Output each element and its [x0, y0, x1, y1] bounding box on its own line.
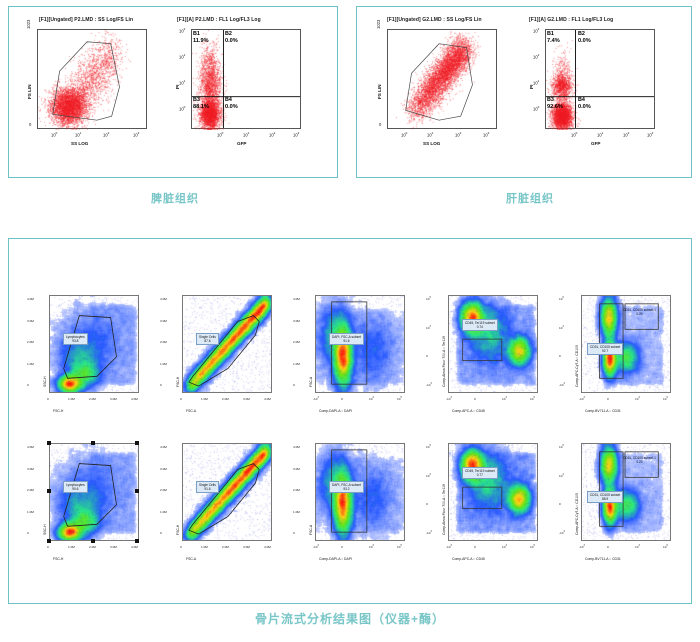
panel-spleen: [F1][Ungated] P2.LMD : SS Log/FS Lin FS …: [8, 6, 338, 178]
bone-ytick: 103: [559, 326, 564, 330]
plot-spleen-scatter: [37, 29, 147, 129]
bone-ytick: -103: [559, 531, 565, 535]
gate-label: DAPI, FSC-A subset91.6: [329, 333, 364, 345]
bone-xtick: -103: [313, 545, 319, 549]
bone-ytick: 103: [559, 474, 564, 478]
ytick-spleen-quad-3: 103: [179, 27, 185, 33]
bone-yaxis-label: FSC-A: [309, 377, 313, 387]
plot-title-liver-scatter: [F1][Ungated] G2.LMD : SS Log/FS Lin: [387, 17, 482, 23]
bone-ytick: 0: [27, 383, 29, 387]
quad-name-b3: B3: [547, 97, 554, 103]
bone-yaxis-label: Comp-APC-Cy7-A :: CD105: [575, 493, 579, 535]
bone-ytick: 103: [426, 326, 431, 330]
quadrant-crosshair-icon: [546, 30, 654, 128]
bone-xtick: 3.0M: [110, 545, 117, 549]
bone-xtick: 105: [530, 397, 535, 401]
bone-ytick: 1.0M: [293, 362, 300, 366]
selection-handle[interactable]: [135, 489, 139, 493]
ytick-spleen-quad-0: 100: [179, 105, 185, 111]
bone-plot-cell[interactable]: CD31, CD105 subset92.7CD31, CD105 subset…: [555, 291, 683, 441]
bone-ytick: 4.0M: [27, 297, 34, 301]
bone-plot-cell[interactable]: Single Cells87.64.0M3.0M2.0M1.0M001.0M2.…: [156, 291, 284, 441]
bone-ytick: 3.0M: [27, 467, 34, 471]
gate-label-secondary: CD31, CD105 subset-10.20: [621, 307, 658, 317]
xaxis-label-spleen-quad: GFP: [237, 141, 246, 146]
quad-name-b2: B2: [225, 31, 232, 37]
bone-yaxis-label: Comp-APC-Cy7-A :: CD105: [575, 345, 579, 387]
bone-xtick: 103: [502, 397, 507, 401]
xtick-liver-quad-1: 101: [597, 131, 603, 137]
caption-spleen: 脾脏组织: [60, 190, 290, 206]
bone-ytick: 3.0M: [293, 319, 300, 323]
bone-xaxis-label: Comp-APC-A :: CD45: [452, 557, 485, 561]
yaxis-label-spleen-scatter: FS LIN: [27, 84, 32, 99]
bone-yaxis-label: Comp-Alexa Flour 700-A :: Ter119: [442, 336, 446, 387]
bone-yaxis-label: FSC-A: [309, 525, 313, 535]
bone-xtick: 1.0M: [201, 545, 208, 549]
bone-ytick: 1.0M: [160, 510, 167, 514]
bone-xtick: 2.0M: [222, 545, 229, 549]
bone-xtick: 103: [369, 397, 374, 401]
quad-name-b2: B2: [578, 31, 585, 37]
quad-value-b3: 88.1%: [193, 104, 209, 110]
bone-ytick: 103: [426, 474, 431, 478]
bone-xaxis-label: FSC-H: [53, 557, 63, 561]
bone-xtick: 4.0M: [131, 397, 138, 401]
bone-yaxis-label: FSC-H: [176, 377, 180, 387]
bone-xtick: 1.0M: [201, 397, 208, 401]
bone-xtick: -103: [446, 545, 452, 549]
bone-plot-cell[interactable]: Lymphocytes90.64.0M3.0M2.0M1.0M001.0M2.0…: [23, 439, 151, 589]
bone-xtick: -103: [313, 397, 319, 401]
ytick-spleen-quad-2: 102: [179, 53, 185, 59]
bone-yaxis-label: SSC-H: [43, 376, 47, 387]
bone-xtick: 103: [635, 545, 640, 549]
bone-plot-cell[interactable]: Lymphocytes93.84.0M3.0M2.0M1.0M001.0M2.0…: [23, 291, 151, 441]
bone-ytick: 0: [160, 383, 162, 387]
bone-ytick: 105: [559, 297, 564, 301]
bone-xtick: 105: [397, 545, 402, 549]
ytick-liver-scatter-1023: 1023: [376, 20, 381, 29]
bone-ytick: 0: [426, 354, 428, 358]
bone-ytick: 105: [426, 445, 431, 449]
bone-xtick: 0: [474, 545, 476, 549]
gate-label: Single Cells91.6: [196, 481, 219, 493]
xaxis-label-liver-scatter: SS LOG: [423, 141, 440, 146]
xtick-liver-quad-0: 100: [571, 131, 577, 137]
gate-label-value-2: 0.20: [623, 460, 656, 464]
bone-xtick: -103: [579, 397, 585, 401]
quad-name-b4: B4: [578, 97, 585, 103]
gate-label-value: 92.7: [590, 349, 620, 353]
bone-ytick: -103: [426, 531, 432, 535]
bone-xtick: 105: [663, 545, 668, 549]
ytick-liver-quad-1: 101: [533, 79, 539, 85]
xtick-spleen-quad-3: 103: [293, 131, 299, 137]
bone-ytick: 3.0M: [160, 467, 167, 471]
bone-yaxis-label: Comp-Alexa Flour 700-A :: Ter119: [442, 484, 446, 535]
bone-ytick: 0: [293, 383, 295, 387]
bone-xtick: -103: [579, 545, 585, 549]
quadrant-crosshair-icon: [192, 30, 300, 128]
gate-label-value: 90.6: [66, 487, 85, 491]
gate-label: Lymphocytes90.6: [63, 481, 88, 493]
bone-ytick: 2.0M: [293, 488, 300, 492]
xtick-spleen-scatter-2: 102: [103, 131, 109, 137]
bone-ytick: 0: [27, 531, 29, 535]
bone-xtick: 105: [530, 545, 535, 549]
bone-ytick: -103: [559, 383, 565, 387]
bone-xtick: 103: [502, 545, 507, 549]
bone-xaxis-label: Comp-BV711-A :: CD31: [585, 409, 621, 413]
ytick-liver-quad-3: 103: [533, 27, 539, 33]
xtick-liver-scatter-3: 103: [483, 131, 489, 137]
bone-xtick: 1.0M: [68, 397, 75, 401]
selection-handle[interactable]: [47, 489, 51, 493]
bone-ytick: 2.0M: [160, 488, 167, 492]
bone-xtick: 105: [663, 397, 668, 401]
xtick-spleen-scatter-0: 100: [51, 131, 57, 137]
bone-xtick: 1.0M: [68, 545, 75, 549]
bone-xtick: 0: [341, 545, 343, 549]
plot-title-spleen-quad: [F1][A] P2.LMD : FL1 Log/FL3 Log: [177, 17, 261, 23]
bone-ytick: 0: [559, 502, 561, 506]
bone-ytick: 105: [559, 445, 564, 449]
xtick-spleen-scatter-1: 101: [75, 131, 81, 137]
bone-xtick: 3.0M: [243, 545, 250, 549]
quad-value-b1: 7.4%: [547, 38, 560, 44]
bone-xtick: -103: [446, 397, 452, 401]
bone-ytick: 1.0M: [27, 510, 34, 514]
bone-xtick: 103: [369, 545, 374, 549]
gate-shape-icon: [449, 296, 537, 392]
gate-label-secondary: CD31, CD105 subset-10.20: [621, 455, 658, 465]
ytick-liver-scatter-0: 0: [379, 122, 381, 127]
bone-xtick: 4.0M: [264, 545, 271, 549]
selection-handle[interactable]: [91, 441, 95, 445]
xtick-liver-scatter-0: 100: [401, 131, 407, 137]
plot-title-spleen-scatter: [F1][Ungated] P2.LMD : SS Log/FS Lin: [39, 17, 133, 23]
gate-label: Lymphocytes93.8: [63, 333, 88, 345]
plot-spleen-quad: [191, 29, 301, 129]
quad-value-b2: 0.0%: [225, 38, 238, 44]
xtick-spleen-quad-1: 101: [243, 131, 249, 137]
bone-ytick: 4.0M: [293, 297, 300, 301]
bone-xtick: 0: [180, 545, 182, 549]
selection-handle[interactable]: [135, 539, 139, 543]
gate-label-value: 87.6: [199, 339, 216, 343]
bone-ytick: 1.0M: [160, 362, 167, 366]
bone-yaxis-label: SSC-H: [43, 524, 47, 535]
xtick-liver-quad-3: 103: [647, 131, 653, 137]
flow-cytometry-figure: [F1][Ungated] P2.LMD : SS Log/FS Lin FS …: [0, 0, 700, 642]
bone-xtick: 0: [607, 545, 609, 549]
bone-ytick: 2.0M: [27, 340, 34, 344]
bone-ytick: -103: [426, 383, 432, 387]
top-panel-row: [F1][Ungated] P2.LMD : SS Log/FS Lin FS …: [0, 6, 700, 186]
gate-polygon-icon: [388, 30, 496, 128]
gate-label-value: 88.9: [590, 497, 620, 501]
bone-ytick: 0: [160, 531, 162, 535]
bone-ytick: 2.0M: [27, 488, 34, 492]
bone-ytick: 4.0M: [27, 445, 34, 449]
bone-xtick: 2.0M: [222, 397, 229, 401]
quad-name-b1: B1: [547, 31, 554, 37]
bone-xtick: 3.0M: [110, 397, 117, 401]
gate-label: CD31, CD105 subset92.7: [587, 343, 623, 355]
xtick-liver-scatter-1: 101: [427, 131, 433, 137]
bone-xaxis-label: Comp-DAPI-A :: DAPI: [319, 409, 352, 413]
bone-ytick: 0: [426, 502, 428, 506]
bone-ytick: 0: [293, 531, 295, 535]
bone-xtick: 0: [180, 397, 182, 401]
gate-label-value: 91.6: [332, 339, 361, 343]
gate-label-value: 0.74: [465, 325, 495, 329]
bone-xaxis-label: Comp-BV711-A :: CD31: [585, 557, 621, 561]
bone-xaxis-label: FSC-H: [53, 409, 63, 413]
gate-label: Single Cells87.6: [196, 333, 219, 345]
quad-value-b4: 0.0%: [225, 104, 238, 110]
bone-plot-cell[interactable]: CD45, Ter119 subset0.771051030-103-10301…: [422, 439, 550, 589]
caption-liver: 肝脏组织: [415, 190, 645, 206]
plot-liver-quad: [545, 29, 655, 129]
bone-plot-row-1: Lymphocytes93.84.0M3.0M2.0M1.0M001.0M2.0…: [9, 291, 693, 441]
bone-xtick: 2.0M: [89, 397, 96, 401]
bone-ytick: 3.0M: [27, 319, 34, 323]
gate-shape-icon: [449, 444, 537, 540]
bone-xtick: 3.0M: [243, 397, 250, 401]
bone-xtick: 4.0M: [131, 545, 138, 549]
gate-label: CD31, CD105 subset88.9: [587, 491, 623, 503]
bone-plot-cell[interactable]: CD45, Ter119 subset0.741051030-103-10301…: [422, 291, 550, 441]
selection-handle[interactable]: [47, 441, 51, 445]
bone-xaxis-label: FSC-A: [186, 557, 196, 561]
xtick-spleen-scatter-3: 103: [133, 131, 139, 137]
caption-bone: 骨片流式分析结果图（仪器+酶）: [160, 610, 540, 627]
bone-ytick: 1.0M: [27, 362, 34, 366]
ytick-spleen-scatter-1023: 1023: [26, 20, 31, 29]
bone-ytick: 4.0M: [160, 445, 167, 449]
bone-plot-4[interactable]: [448, 443, 538, 541]
quad-value-b3: 92.6%: [547, 104, 563, 110]
bone-xtick: 103: [635, 397, 640, 401]
selection-handle[interactable]: [47, 539, 51, 543]
yaxis-label-liver-scatter: FS LIN: [377, 84, 382, 99]
bone-ytick: 2.0M: [293, 340, 300, 344]
ytick-liver-quad-0: 100: [533, 105, 539, 111]
bone-ytick: 2.0M: [160, 340, 167, 344]
bone-xtick: 0: [607, 397, 609, 401]
gate-label: DAPI, FSC-A subset93.2: [329, 481, 364, 493]
bone-plot-cell[interactable]: CD31, CD105 subset88.9CD31, CD105 subset…: [555, 439, 683, 589]
quad-name-b4: B4: [225, 97, 232, 103]
bone-xtick: 2.0M: [89, 545, 96, 549]
bone-ytick: 3.0M: [293, 467, 300, 471]
panel-bone-marrow: Lymphocytes93.84.0M3.0M2.0M1.0M001.0M2.0…: [8, 238, 692, 604]
bone-xtick: 0: [47, 545, 49, 549]
plot-liver-scatter: [387, 29, 497, 129]
quad-value-b4: 0.0%: [578, 104, 591, 110]
quad-name-b3: B3: [193, 97, 200, 103]
xtick-spleen-quad-0: 100: [217, 131, 223, 137]
bone-yaxis-label: FSC-H: [176, 525, 180, 535]
bone-xaxis-label: Comp-APC-A :: CD45: [452, 409, 485, 413]
xtick-liver-scatter-2: 102: [455, 131, 461, 137]
quad-value-b2: 0.0%: [578, 38, 591, 44]
gate-label: CD45, Ter119 subset0.77: [462, 467, 498, 479]
bone-ytick: 3.0M: [160, 319, 167, 323]
plot-title-liver-quad: [F1][A] G2.LMD : FL1 Log/FL3 Log: [529, 17, 613, 23]
gate-label-value: 93.2: [332, 487, 361, 491]
bone-xtick: 0: [47, 397, 49, 401]
bone-xtick: 105: [397, 397, 402, 401]
bone-plot-cell[interactable]: Single Cells91.64.0M3.0M2.0M1.0M001.0M2.…: [156, 439, 284, 589]
gate-label-value-2: 0.20: [623, 312, 656, 316]
bone-ytick: 1.0M: [293, 510, 300, 514]
bone-xaxis-label: Comp-DAPI-A :: DAPI: [319, 557, 352, 561]
ytick-liver-quad-2: 102: [533, 53, 539, 59]
gate-label-value: 0.77: [465, 473, 495, 477]
ytick-spleen-quad-1: 101: [179, 79, 185, 85]
gate-label-value: 91.6: [199, 487, 216, 491]
xaxis-label-spleen-scatter: SS LOG: [71, 141, 88, 146]
xaxis-label-liver-quad: GFP: [591, 141, 600, 146]
gate-label-value: 93.8: [66, 339, 85, 343]
bone-xtick: 0: [474, 397, 476, 401]
bone-ytick: 4.0M: [160, 297, 167, 301]
bone-xaxis-label: FSC-A: [186, 409, 196, 413]
bone-plot-cell[interactable]: DAPI, FSC-A subset93.24.0M3.0M2.0M1.0M0-…: [289, 439, 417, 589]
bone-ytick: 0: [559, 354, 561, 358]
quad-value-b1: 11.9%: [193, 38, 209, 44]
bone-xtick: 4.0M: [264, 397, 271, 401]
bone-plot-row-2: Lymphocytes90.64.0M3.0M2.0M1.0M001.0M2.0…: [9, 439, 693, 589]
xtick-liver-quad-2: 102: [623, 131, 629, 137]
panel-liver: [F1][Ungated] G2.LMD : SS Log/FS Lin FS …: [356, 6, 692, 178]
bone-plot-4[interactable]: [448, 295, 538, 393]
bone-plot-cell[interactable]: DAPI, FSC-A subset91.64.0M3.0M2.0M1.0M0-…: [289, 291, 417, 441]
gate-label: CD45, Ter119 subset0.74: [462, 319, 498, 331]
xtick-spleen-quad-2: 102: [269, 131, 275, 137]
gate-polygon-icon: [38, 30, 146, 128]
selection-handle[interactable]: [135, 441, 139, 445]
selection-handle[interactable]: [91, 539, 95, 543]
bone-ytick: 4.0M: [293, 445, 300, 449]
bone-ytick: 105: [426, 297, 431, 301]
bone-xtick: 0: [341, 397, 343, 401]
quad-name-b1: B1: [193, 31, 200, 37]
ytick-spleen-scatter-0: 0: [29, 122, 31, 127]
